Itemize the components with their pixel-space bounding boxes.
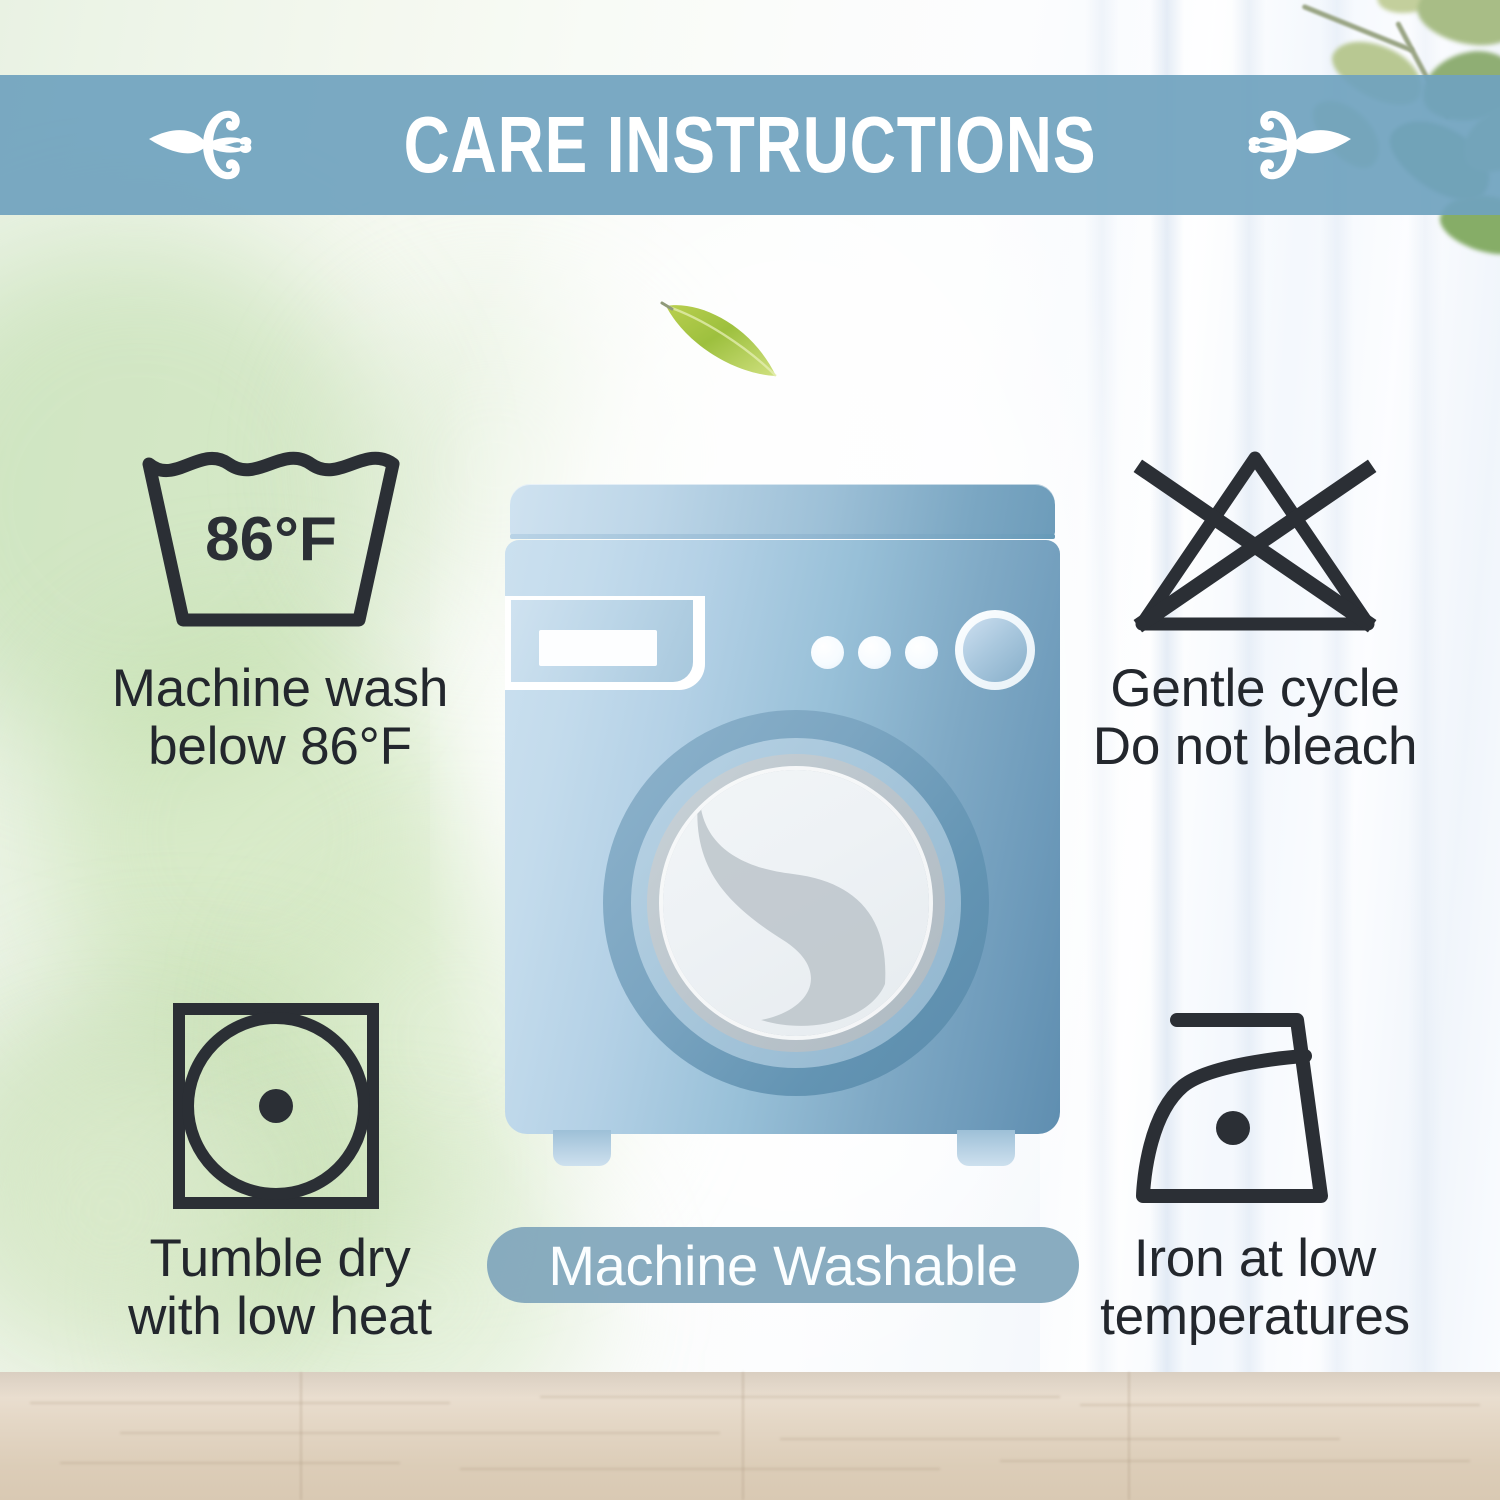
- care-label-iron-low: Iron at low temperatures: [1100, 1230, 1410, 1347]
- floating-leaf-icon: [660, 288, 785, 383]
- care-label-machine-wash: Machine wash below 86°F: [112, 660, 448, 777]
- machine-lid-edge: [510, 534, 1055, 539]
- fleur-de-lis-icon: [1235, 97, 1363, 193]
- tumble-dry-low-icon: [170, 1000, 390, 1212]
- indicator-dot: [905, 636, 938, 669]
- machine-lid: [510, 484, 1055, 536]
- triangle-crossed-out-icon: [1110, 442, 1400, 642]
- iron-one-dot-icon: [1125, 1000, 1385, 1212]
- care-symbol-iron-low: Iron at low temperatures: [1030, 1000, 1480, 1347]
- machine-display-panel: [511, 600, 693, 682]
- surface-shadow: [0, 1372, 1500, 1398]
- wash-tub-icon: 86°F: [135, 442, 425, 642]
- machine-foot: [957, 1130, 1015, 1166]
- care-label-tumble-dry: Tumble dry with low heat: [128, 1230, 432, 1347]
- indicator-dot: [858, 636, 891, 669]
- washing-machine-illustration: [505, 484, 1060, 1184]
- care-symbol-do-not-bleach: Gentle cycle Do not bleach: [1030, 442, 1480, 777]
- dial-knob-inner: [963, 618, 1027, 682]
- header-banner: CARE INSTRUCTIONS: [0, 75, 1500, 215]
- display-screen: [539, 630, 657, 666]
- machine-foot: [553, 1130, 611, 1166]
- indicator-dot: [811, 636, 844, 669]
- wash-temperature-value: 86°F: [205, 505, 337, 574]
- page-title: CARE INSTRUCTIONS: [404, 105, 1097, 185]
- door-ring-inner: [647, 754, 945, 1052]
- leaf-shape: [1412, 0, 1500, 54]
- care-symbol-machine-wash: 86°F Machine wash below 86°F: [55, 442, 505, 777]
- badge-label: Machine Washable: [548, 1233, 1017, 1298]
- door-ring-outer: [631, 738, 961, 1068]
- care-instructions-poster: CARE INSTRUCTIONS 86°F Machine wash belo…: [0, 0, 1500, 1500]
- door-glass: [663, 770, 929, 1036]
- machine-dial-knob: [955, 610, 1035, 690]
- fleur-de-lis-icon: [137, 97, 265, 193]
- machine-washable-badge: Machine Washable: [487, 1227, 1079, 1303]
- care-symbol-tumble-dry: Tumble dry with low heat: [55, 1000, 505, 1347]
- machine-body: [505, 540, 1060, 1134]
- machine-door: [603, 710, 989, 1096]
- care-label-do-not-bleach: Gentle cycle Do not bleach: [1093, 660, 1417, 777]
